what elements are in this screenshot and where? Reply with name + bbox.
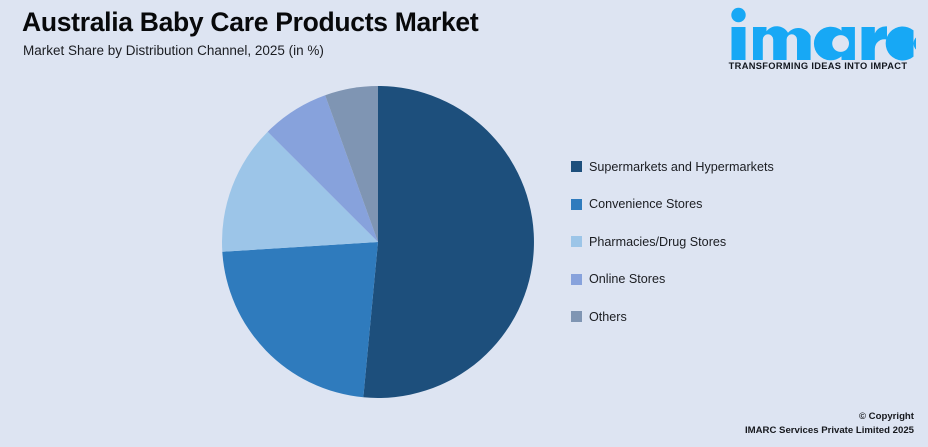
pie-chart: [222, 86, 534, 398]
legend-item[interactable]: Supermarkets and Hypermarkets: [571, 161, 891, 172]
legend-item[interactable]: Online Stores: [571, 274, 891, 285]
chart-page: Australia Baby Care Products Market Mark…: [0, 0, 928, 447]
legend-item-label: Pharmacies/Drug Stores: [589, 236, 726, 248]
legend-item-label: Supermarkets and Hypermarkets: [589, 161, 774, 173]
pie-slice[interactable]: [363, 86, 534, 398]
pie-slice[interactable]: [222, 242, 378, 397]
logo-tagline: TRANSFORMING IDEAS INTO IMPACT: [720, 61, 916, 71]
legend-swatch-icon: [571, 236, 582, 247]
imarc-logo: TRANSFORMING IDEAS INTO IMPACT: [720, 6, 916, 80]
legend-item-label: Online Stores: [589, 273, 665, 285]
legend-item[interactable]: Convenience Stores: [571, 199, 891, 210]
copyright-line-2: IMARC Services Private Limited 2025: [745, 424, 914, 438]
legend-item-label: Others: [589, 311, 627, 323]
legend-item[interactable]: Others: [571, 311, 891, 322]
copyright-line-1: © Copyright: [745, 410, 914, 424]
legend-swatch-icon: [571, 274, 582, 285]
imarc-wordmark-icon: [720, 6, 916, 62]
chart-legend: Supermarkets and HypermarketsConvenience…: [571, 161, 891, 349]
legend-swatch-icon: [571, 311, 582, 322]
page-subtitle: Market Share by Distribution Channel, 20…: [23, 43, 324, 58]
legend-swatch-icon: [571, 161, 582, 172]
legend-swatch-icon: [571, 199, 582, 210]
legend-item[interactable]: Pharmacies/Drug Stores: [571, 236, 891, 247]
legend-item-label: Convenience Stores: [589, 198, 702, 210]
page-title: Australia Baby Care Products Market: [22, 7, 478, 38]
copyright-footer: © Copyright IMARC Services Private Limit…: [745, 410, 914, 438]
pie-chart-svg: [222, 86, 534, 398]
